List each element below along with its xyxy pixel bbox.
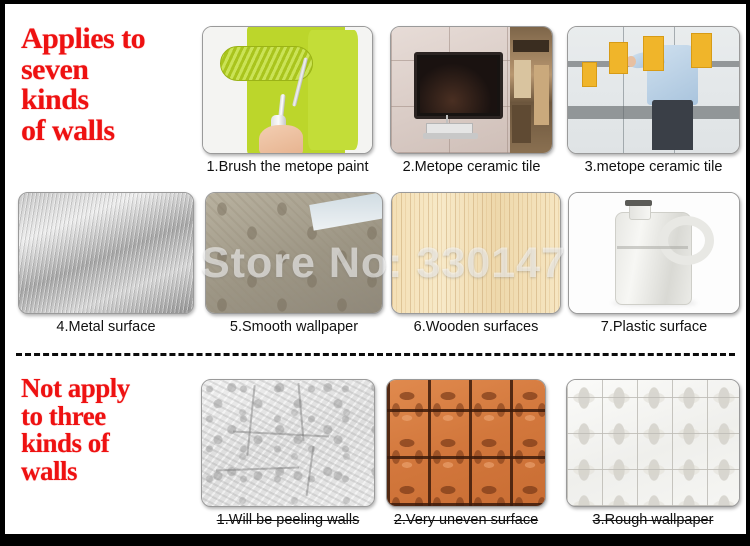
thumbnail-wood-panel [391, 192, 561, 314]
thumbnail-glass-panel-worker [567, 26, 740, 154]
art-rough-3d-wallpaper [567, 380, 739, 506]
caption-brush-the-metope-paint: 1.Brush the metope paint [188, 159, 387, 175]
caption-metope-ceramic-tile-2: 3.metope ceramic tile [553, 159, 746, 175]
art-glass-panel-worker [568, 27, 739, 153]
art-paint-roller [203, 27, 372, 153]
thumbnail-tv-tiled-wall [390, 26, 553, 154]
art-tv-tiled-wall [391, 27, 552, 153]
caption-plastic-surface: 7.Plastic surface [554, 319, 746, 335]
art-peeling-plaster [202, 380, 374, 506]
sticky-note-3 [643, 36, 664, 71]
art-brushed-metal [19, 193, 193, 313]
not-apply-heading: Not apply to three kinds of walls [21, 375, 130, 485]
caption-very-uneven-surface: 2.Very uneven surface [372, 512, 560, 528]
section-divider [16, 353, 735, 356]
thumbnail-peeling-plaster [201, 379, 375, 507]
caption-metope-ceramic-tile-1: 2.Metope ceramic tile [376, 159, 567, 175]
poster-canvas: Applies to seven kinds of walls 1.Brush … [5, 4, 746, 534]
poster-frame: Applies to seven kinds of walls 1.Brush … [0, 0, 750, 546]
applies-heading: Applies to seven kinds of walls [21, 24, 145, 146]
art-terracotta-carved-tile [387, 380, 545, 506]
thumbnail-paint-roller [202, 26, 373, 154]
thumbnail-terracotta-carved-tile [386, 379, 546, 507]
caption-metal-surface: 4.Metal surface [5, 319, 208, 335]
art-damask-wallpaper [206, 193, 382, 313]
sticky-note-4 [691, 33, 712, 68]
sticky-note-1 [582, 62, 598, 87]
thumbnail-plastic-jug [568, 192, 740, 314]
caption-rough-wallpaper: 3.Rough wallpaper [552, 512, 746, 528]
thumbnail-rough-3d-wallpaper [566, 379, 740, 507]
art-plastic-jug [569, 193, 739, 313]
caption-wooden-surfaces: 6.Wooden surfaces [377, 319, 575, 335]
caption-smooth-wallpaper: 5.Smooth wallpaper [191, 319, 397, 335]
art-wood-panel [392, 193, 560, 313]
thumbnail-damask-wallpaper [205, 192, 383, 314]
sticky-note-2 [609, 42, 628, 74]
caption-will-be-peeling-walls: 1.Will be peeling walls [187, 512, 389, 528]
thumbnail-brushed-metal [18, 192, 194, 314]
